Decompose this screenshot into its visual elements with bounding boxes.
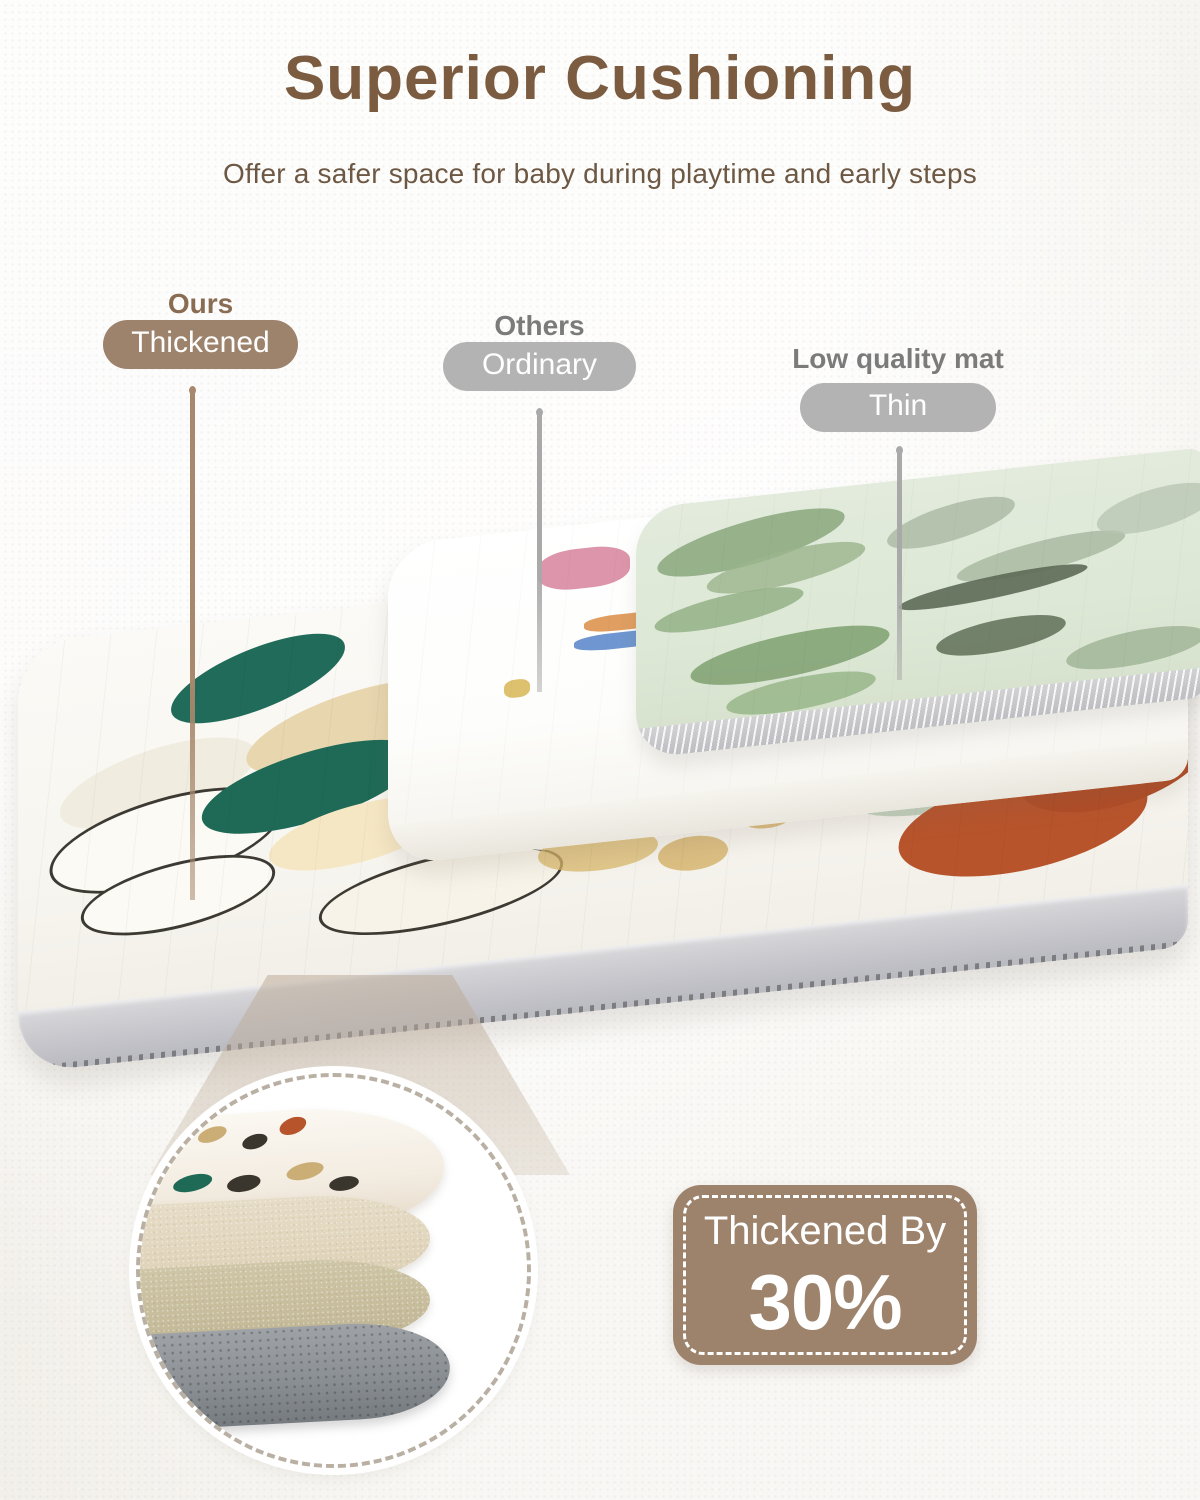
callout-ours-caption: Ours xyxy=(103,288,298,320)
thickened-badge: Thickened By 30% xyxy=(673,1185,977,1365)
callout-low-quality-caption: Low quality mat xyxy=(778,343,1018,375)
callout-others-pill[interactable]: Ordinary xyxy=(443,342,636,391)
callout-low-quality: Low quality mat Thin xyxy=(778,343,1018,432)
pointer-line-low-quality xyxy=(897,450,902,680)
page-subtitle: Offer a safer space for baby during play… xyxy=(0,158,1200,190)
callout-ours: Ours Thickened xyxy=(103,288,298,369)
callout-others: Others Ordinary xyxy=(443,310,636,391)
pointer-tip-ours xyxy=(189,386,196,395)
callout-low-quality-pill[interactable]: Thin xyxy=(800,383,996,432)
thickened-badge-line1: Thickened By xyxy=(673,1209,977,1254)
pointer-tip-low-quality xyxy=(896,446,903,455)
callout-others-caption: Others xyxy=(443,310,636,342)
non-slip-base-layer xyxy=(140,1319,452,1432)
page-title: Superior Cushioning xyxy=(0,46,1200,111)
pointer-line-others xyxy=(537,412,542,692)
product-mat-stack xyxy=(0,430,1200,1050)
low-quality-mat-print xyxy=(636,447,1200,509)
pointer-line-ours xyxy=(190,390,195,900)
layer-detail-image xyxy=(140,1077,527,1464)
layer-detail-inset xyxy=(136,1073,531,1468)
pointer-tip-others xyxy=(536,408,543,417)
callout-ours-pill[interactable]: Thickened xyxy=(103,320,298,369)
thickened-badge-line2: 30% xyxy=(673,1257,977,1348)
infographic-canvas: Superior Cushioning Offer a safer space … xyxy=(0,0,1200,1500)
